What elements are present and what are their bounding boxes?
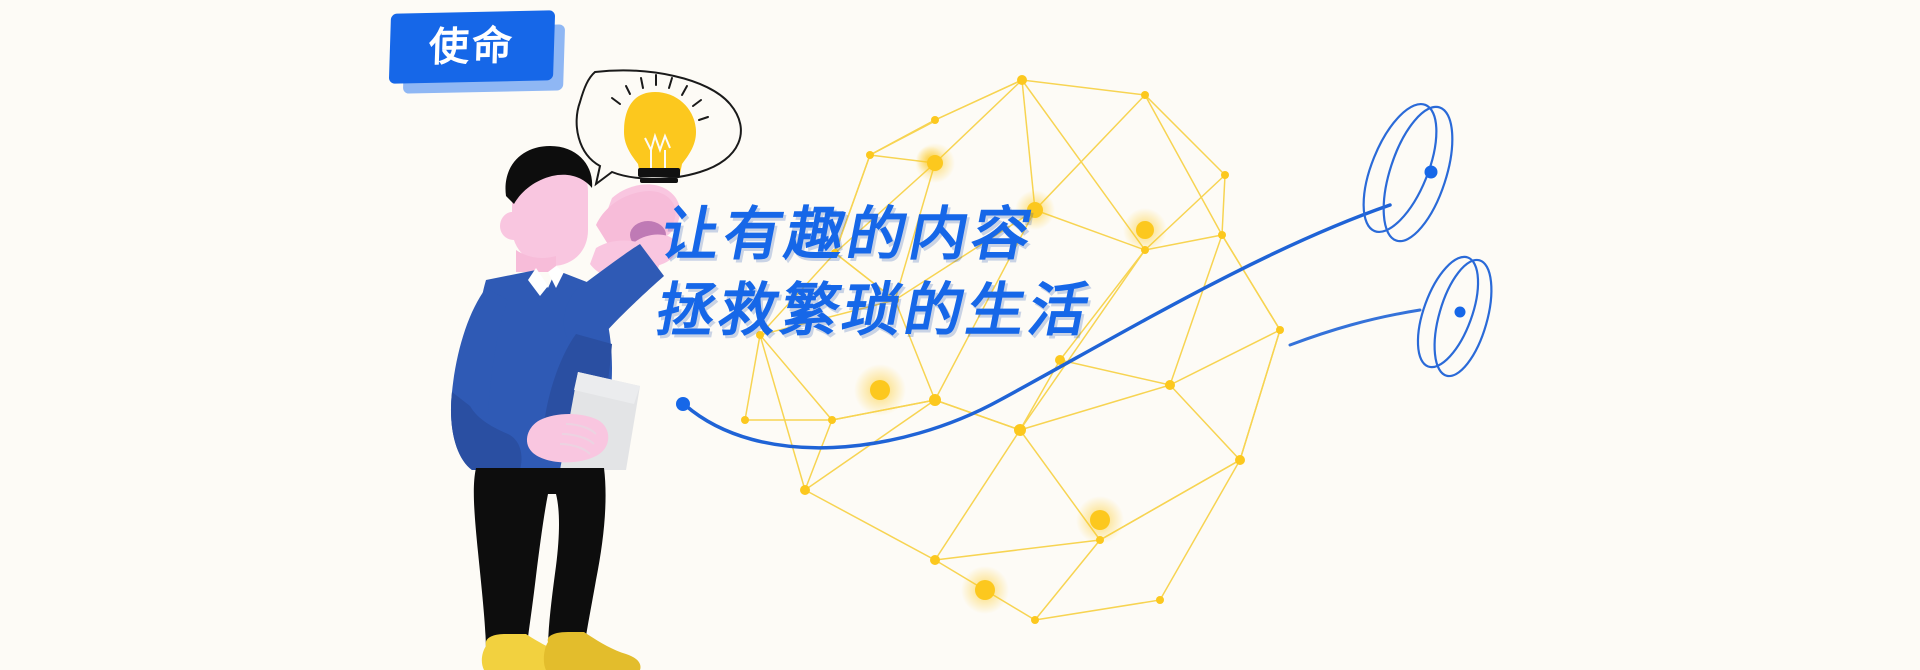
headline-line-1: 让有趣的内容	[655, 196, 1230, 272]
mission-banner: 使命 让有趣的内容 拯救繁琐的生活	[0, 0, 1920, 670]
mission-badge[interactable]: 使命	[390, 12, 570, 100]
badge-label: 使命	[389, 10, 555, 83]
headline-line-2: 拯救繁琐的生活	[640, 272, 1215, 348]
headline: 让有趣的内容 拯救繁琐的生活	[640, 196, 1230, 348]
